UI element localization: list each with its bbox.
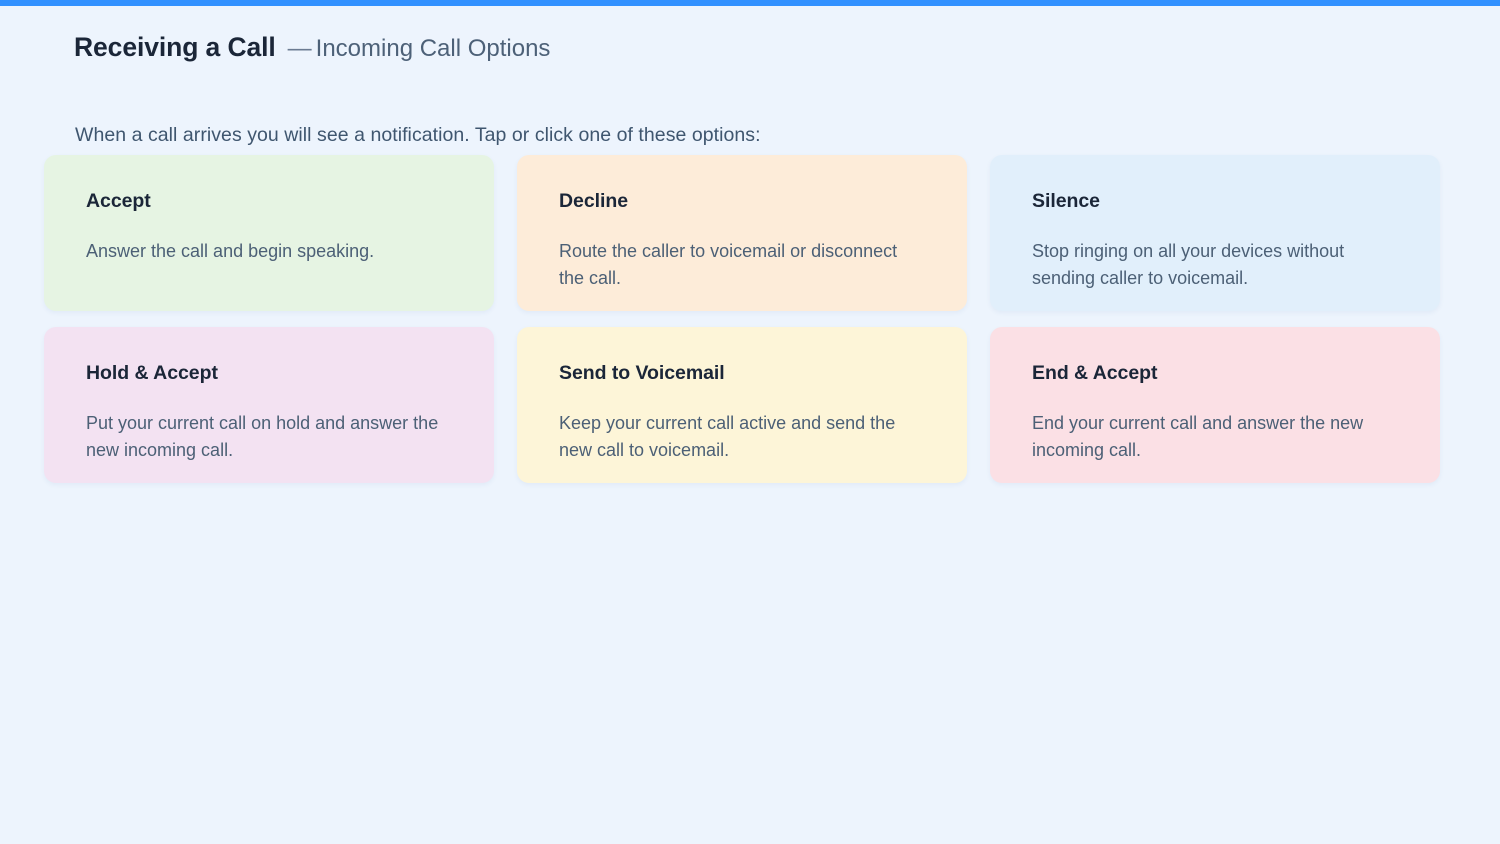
page-title: Receiving a Call: [74, 32, 276, 62]
option-card-description: End your current call and answer the new…: [1032, 384, 1398, 464]
page-header: Receiving a Call—Incoming Call Options: [74, 32, 550, 63]
option-card-description: Route the caller to voicemail or disconn…: [559, 212, 925, 292]
page-content: Receiving a Call—Incoming Call Options W…: [0, 6, 1500, 844]
option-card-decline[interactable]: Decline Route the caller to voicemail or…: [517, 155, 967, 311]
option-card-description: Keep your current call active and send t…: [559, 384, 925, 464]
intro-paragraph: When a call arrives you will see a notif…: [75, 124, 761, 147]
option-card-description: Stop ringing on all your devices without…: [1032, 212, 1398, 292]
option-card-title: Silence: [1032, 191, 1398, 212]
page-subtitle: Incoming Call Options: [316, 35, 551, 62]
option-card-title: Send to Voicemail: [559, 363, 925, 384]
option-card-description: Answer the call and begin speaking.: [86, 212, 452, 265]
option-card-send-to-voicemail[interactable]: Send to Voicemail Keep your current call…: [517, 327, 967, 483]
option-card-title: Decline: [559, 191, 925, 212]
option-card-end-and-accept[interactable]: End & Accept End your current call and a…: [990, 327, 1440, 483]
option-card-title: Accept: [86, 191, 452, 212]
option-card-hold-and-accept[interactable]: Hold & Accept Put your current call on h…: [44, 327, 494, 483]
title-separator: —: [276, 35, 316, 62]
option-card-silence[interactable]: Silence Stop ringing on all your devices…: [990, 155, 1440, 311]
option-card-description: Put your current call on hold and answer…: [86, 384, 452, 464]
option-card-title: End & Accept: [1032, 363, 1398, 384]
option-card-title: Hold & Accept: [86, 363, 452, 384]
incoming-call-options-grid: Accept Answer the call and begin speakin…: [44, 155, 1440, 483]
option-card-accept[interactable]: Accept Answer the call and begin speakin…: [44, 155, 494, 311]
